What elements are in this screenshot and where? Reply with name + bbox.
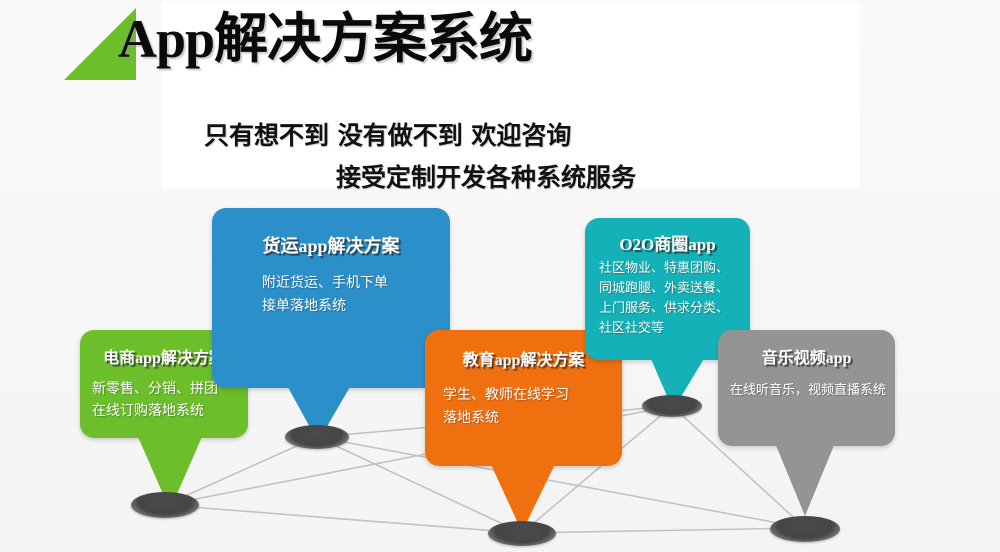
card-freight-bubble[interactable]: 货运app解决方案 附近货运、手机下单 接单落地系统: [212, 208, 450, 388]
card-education-line-2: 落地系统: [443, 407, 610, 430]
card-education-title: 教育app解决方案: [437, 346, 610, 370]
card-freight-body: 附近货运、手机下单 接单落地系统: [226, 272, 436, 318]
card-music-video-bubble[interactable]: 音乐视频app 在线听音乐，视频直播系统: [718, 330, 895, 446]
card-o2o-line-4: 社区社交等: [599, 319, 740, 339]
slide-canvas: App解决方案系统 只有想不到 没有做不到 欢迎咨询 接受定制开发各种系统服务 …: [0, 0, 1000, 552]
card-education-body: 学生、教师在线学习 落地系统: [437, 384, 610, 430]
subtitle-line-1: 只有想不到 没有做不到 欢迎咨询: [204, 116, 571, 152]
card-o2o-line-1: 社区物业、特惠团购、: [599, 259, 740, 279]
node-music-video[interactable]: [770, 516, 840, 542]
node-o2o[interactable]: [642, 395, 702, 417]
node-education[interactable]: [488, 521, 556, 546]
card-education-line-1: 学生、教师在线学习: [443, 384, 610, 407]
card-o2o-line-2: 同城跑腿、外卖送餐、: [599, 279, 740, 299]
page-title: App解决方案系统: [118, 12, 532, 66]
card-music-video-title: 音乐视频app: [730, 344, 883, 368]
subtitle-line-2: 接受定制开发各种系统服务: [336, 158, 636, 194]
card-ecommerce-body: 新零售、分销、拼团 在线订购落地系统: [92, 378, 236, 422]
card-freight-line-1: 附近货运、手机下单: [262, 272, 436, 295]
node-ecommerce[interactable]: [131, 492, 199, 518]
pin-tail-music-video: [755, 438, 865, 522]
card-freight-line-2: 接单落地系统: [262, 295, 436, 318]
card-music-video-line-1: 在线听音乐，视频直播系统: [730, 380, 883, 402]
card-ecommerce-line-2: 在线订购落地系统: [92, 400, 236, 422]
card-o2o-title: O2O商圈app: [595, 230, 740, 255]
card-freight-title: 货运app解决方案: [226, 232, 436, 258]
card-o2o-line-3: 上门服务、供求分类、: [599, 299, 740, 319]
node-freight[interactable]: [285, 425, 349, 449]
card-music-video-body: 在线听音乐，视频直播系统: [730, 380, 883, 402]
card-o2o-body: 社区物业、特惠团购、 同城跑腿、外卖送餐、 上门服务、供求分类、 社区社交等: [595, 259, 740, 339]
